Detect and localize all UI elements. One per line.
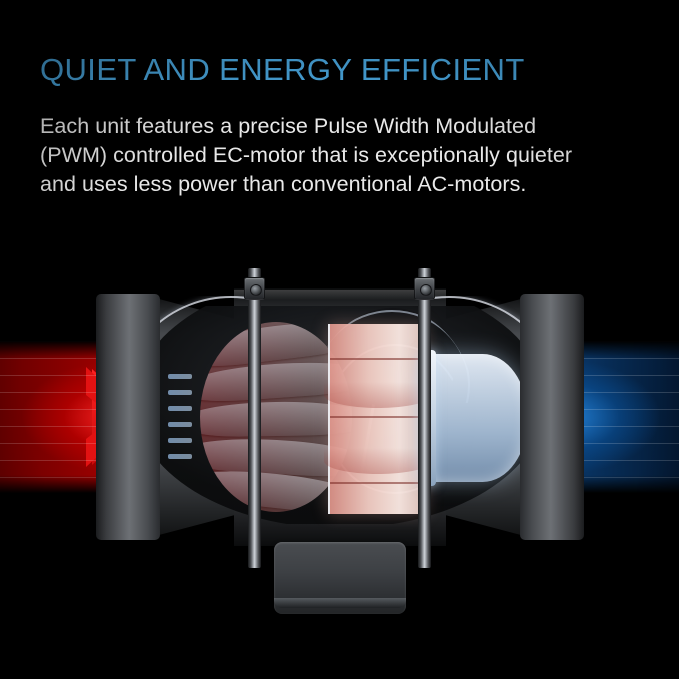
vane-edge [330, 416, 426, 418]
stator-vanes [328, 324, 426, 514]
illustration-stage: QUIET AND ENERGY EFFICIENT Each unit fea… [0, 0, 679, 679]
page-title: QUIET AND ENERGY EFFICIENT [40, 52, 525, 88]
body-copy: Each unit features a precise Pulse Width… [40, 112, 650, 199]
body-line-1: Each unit features a precise Pulse Width… [40, 112, 650, 141]
screw-icon [414, 277, 435, 300]
screw-icon [244, 277, 265, 300]
mounting-bracket-right [418, 268, 431, 568]
vane-edge [330, 482, 426, 484]
intake-flange [96, 294, 160, 540]
body-line-2: (PWM) controlled EC-motor that is except… [40, 141, 650, 170]
vane-edge [330, 358, 426, 360]
exhaust-flange [520, 294, 584, 540]
mounting-bracket-left [248, 268, 261, 568]
body-line-3: and uses less power than conventional AC… [40, 170, 650, 199]
inline-duct-fan [96, 246, 584, 614]
junction-box-lip [274, 598, 406, 608]
vane-curve [324, 448, 432, 474]
vane-curve [324, 382, 432, 408]
